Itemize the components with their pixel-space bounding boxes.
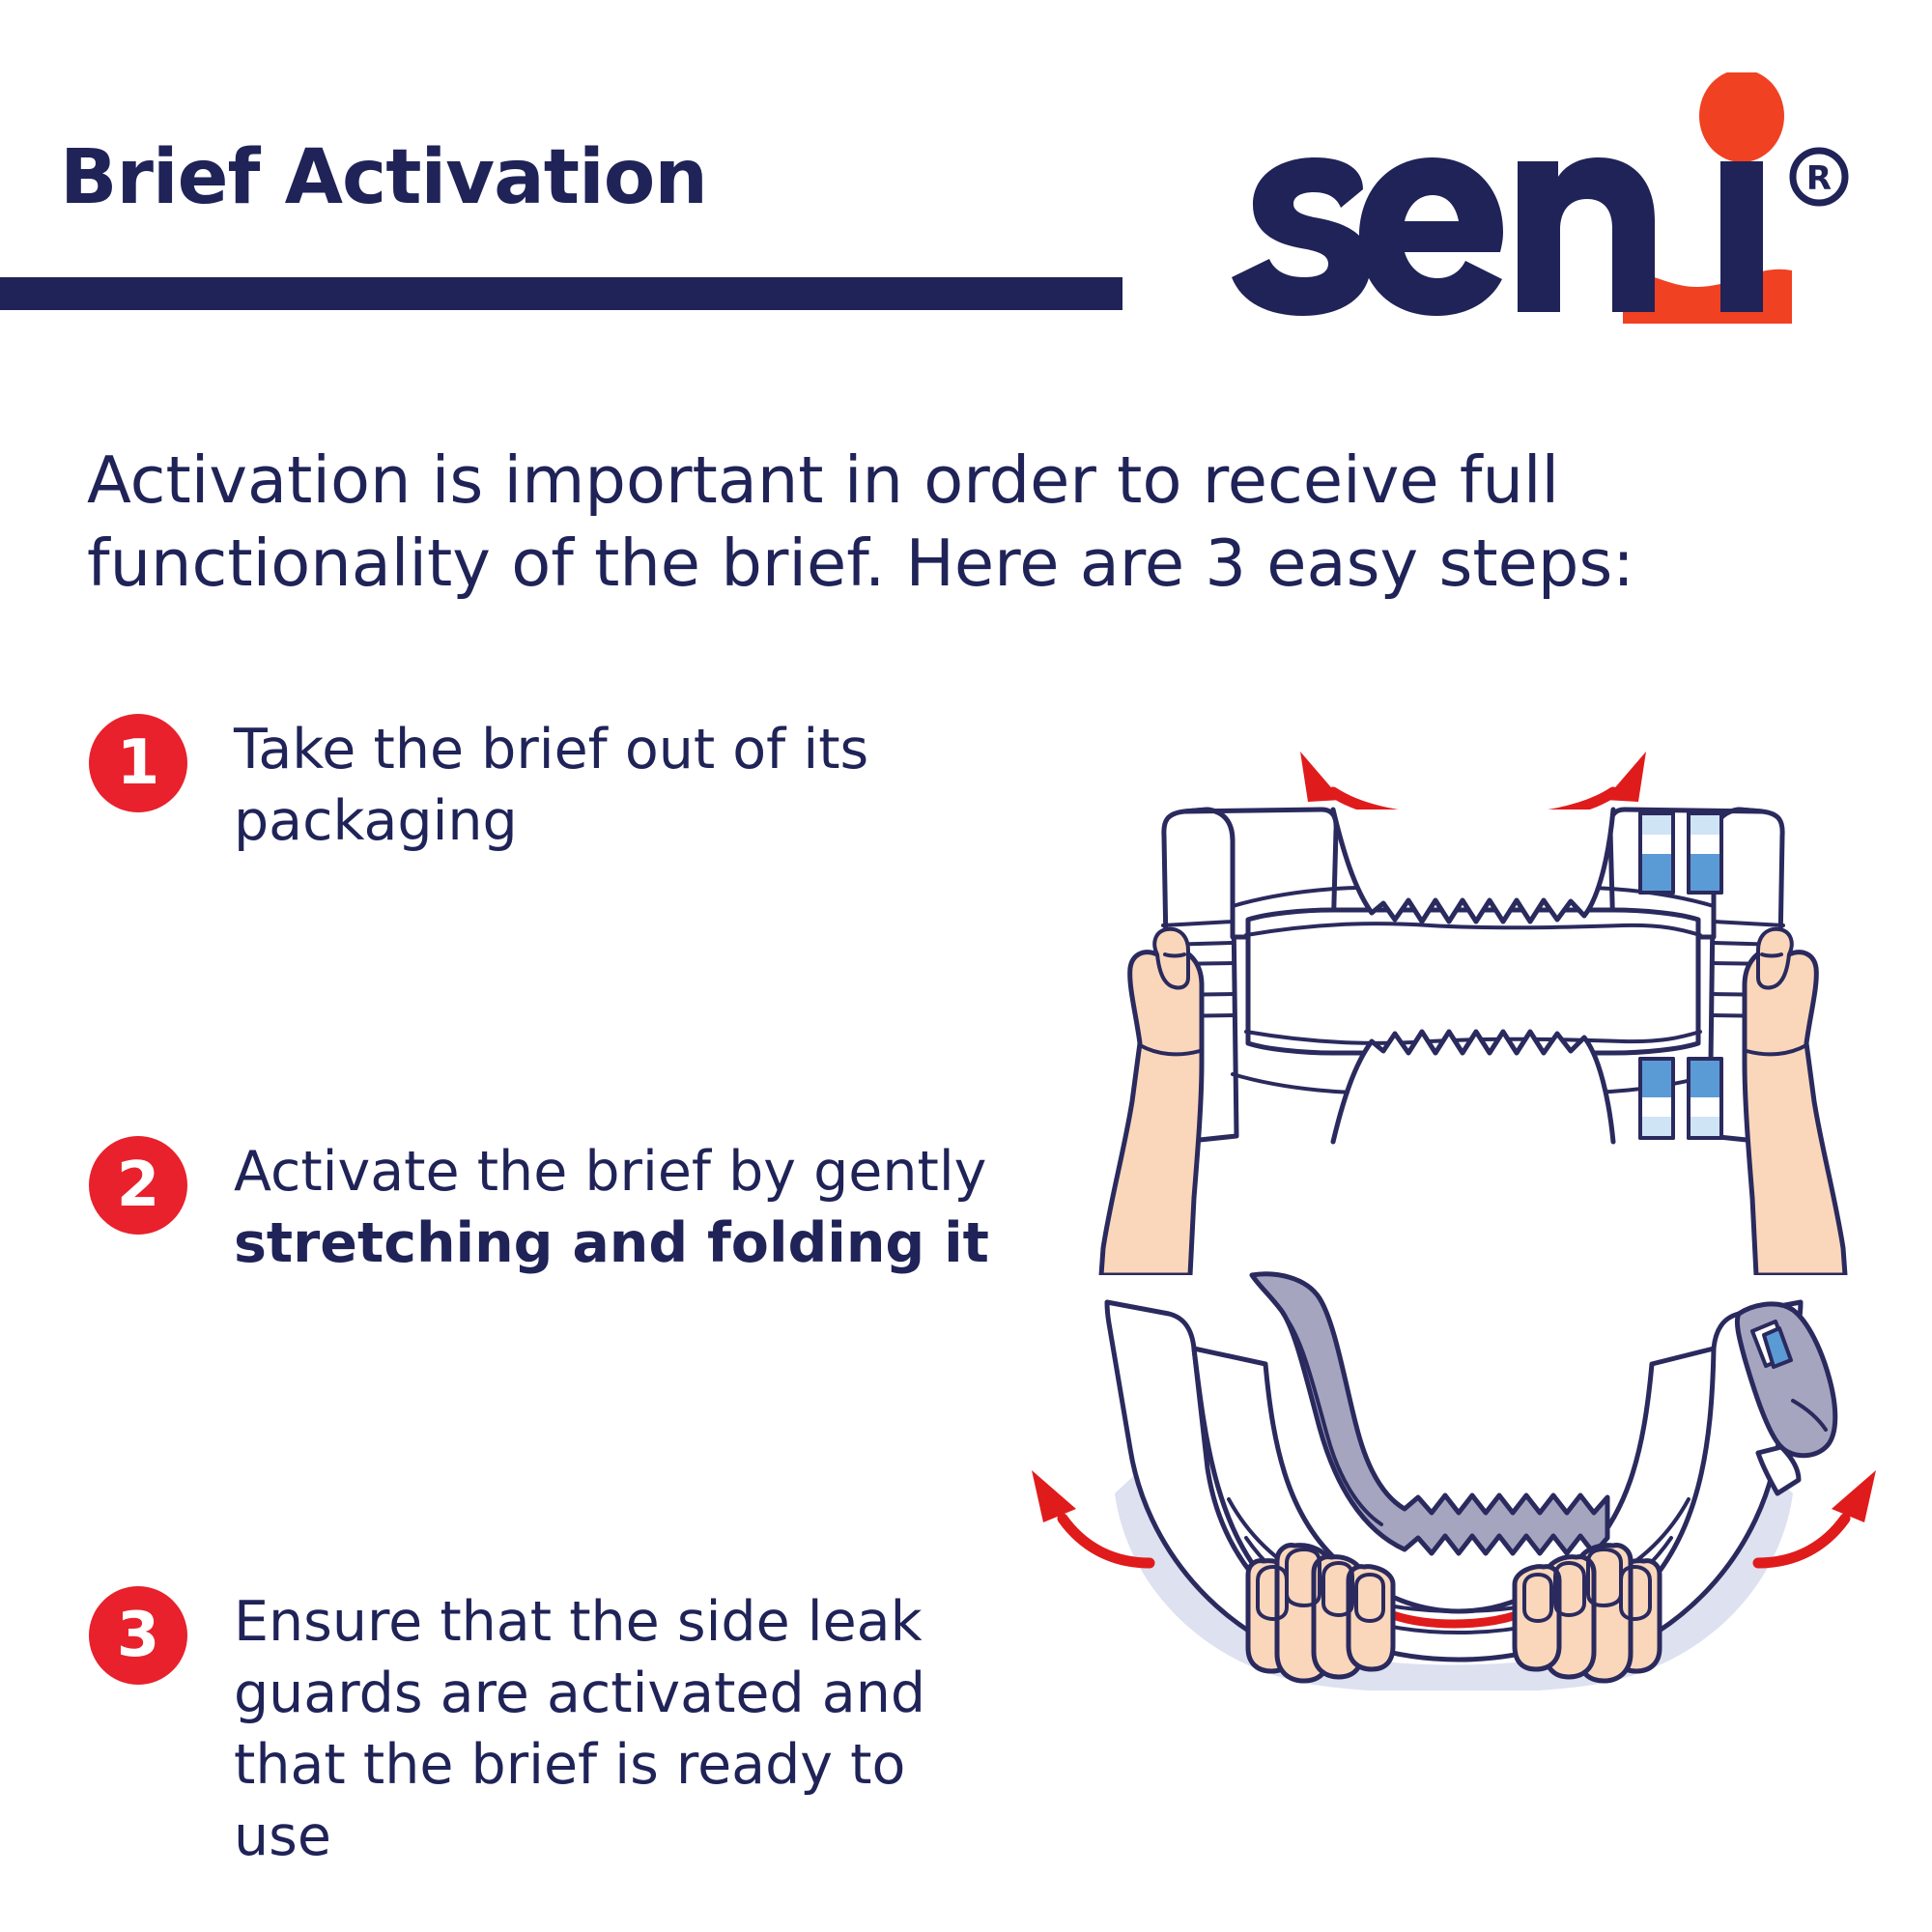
fastening-tab-top-2 [1689,813,1721,893]
logo-dot-icon [1699,72,1784,162]
left-hand-fingers-icon [1248,1546,1393,1681]
step-text-2-lead: Activate the brief by gently [234,1140,986,1204]
logo-letter-n [1518,157,1655,312]
illustration-brief-fold [976,1256,1932,1690]
step-item-1: 1 Take the brief out of its packaging [89,710,1016,857]
fastening-tab-top-1 [1640,813,1673,893]
step-text-2-emphasis: stretching and folding it [234,1211,989,1275]
brief-core [1248,910,1698,1053]
leak-guard-bottom-ruffle [1333,1032,1613,1142]
step-text-3: Ensure that the side leak guards are act… [234,1582,1016,1872]
step-text-1-plain: Take the brief out of its packaging [234,718,868,853]
illustration-brief-stretch [1043,696,1903,1275]
left-hand-icon [1101,929,1202,1275]
step-text-1: Take the brief out of its packaging [234,710,1016,857]
step-number-badge-3: 3 [89,1586,187,1685]
svg-text:R: R [1806,159,1832,198]
fastening-tab-bottom-2 [1689,1059,1721,1138]
intro-paragraph: Activation is important in order to rece… [87,440,1884,606]
leak-guard-top-ruffle [1333,810,1613,922]
leak-guard-grey [1252,1274,1607,1553]
logo-letter-i [1720,161,1763,312]
seni-logo: R [1193,72,1869,324]
step-number-badge-2: 2 [89,1136,187,1235]
step-text-2: Activate the brief by gently stretching … [234,1132,1016,1279]
registered-trademark-icon: R [1793,151,1845,203]
fastening-tab-bottom-1 [1640,1059,1673,1138]
logo-letter-s [1232,157,1371,316]
page-title: Brief Activation [60,140,707,215]
step-text-3-plain: Ensure that the side leak guards are act… [234,1590,925,1868]
right-hand-icon [1745,929,1845,1275]
right-hand-fingers-icon [1515,1546,1660,1681]
step-item-2: 2 Activate the brief by gently stretchin… [89,1132,1016,1279]
step-number-badge-1: 1 [89,714,187,812]
logo-letter-e [1359,157,1503,316]
step-item-3: 3 Ensure that the side leak guards are a… [89,1582,1016,1872]
title-underline-bar [0,277,1122,310]
